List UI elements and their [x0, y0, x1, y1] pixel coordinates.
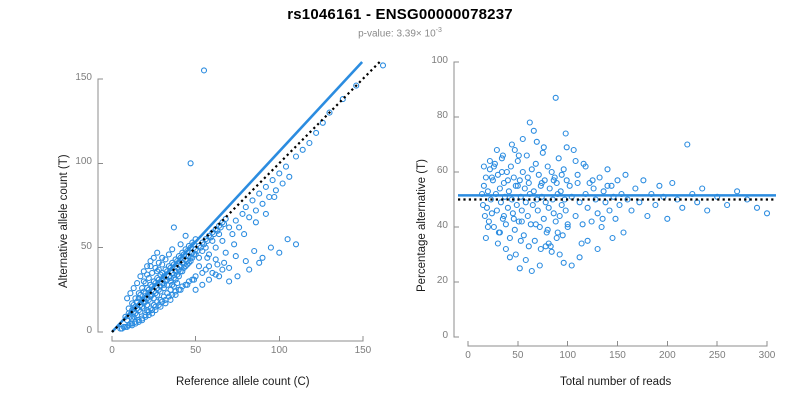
- data-point: [567, 183, 572, 188]
- data-point: [507, 236, 512, 241]
- data-point: [173, 292, 178, 297]
- left-x-tick-label: 50: [176, 345, 216, 356]
- data-point: [155, 250, 160, 255]
- data-point: [260, 201, 265, 206]
- data-point: [294, 154, 299, 159]
- data-point: [272, 195, 277, 200]
- data-point: [512, 227, 517, 232]
- data-point: [273, 188, 278, 193]
- data-point: [320, 120, 325, 125]
- data-point: [573, 159, 578, 164]
- data-point: [268, 245, 273, 250]
- data-point: [515, 159, 520, 164]
- data-point: [495, 241, 500, 246]
- data-point: [621, 230, 626, 235]
- data-point: [607, 208, 612, 213]
- data-point: [300, 147, 305, 152]
- data-point: [243, 205, 248, 210]
- data-point: [503, 222, 508, 227]
- data-point: [605, 167, 610, 172]
- data-point: [610, 236, 615, 241]
- data-point: [525, 214, 530, 219]
- data-point: [540, 150, 545, 155]
- data-point: [545, 164, 550, 169]
- data-point: [680, 205, 685, 210]
- data-point: [546, 205, 551, 210]
- data-point: [533, 222, 538, 227]
- data-point: [589, 219, 594, 224]
- data-point: [497, 186, 502, 191]
- left-y-tick-label: 50: [60, 241, 92, 252]
- data-point: [532, 238, 537, 243]
- data-point: [564, 178, 569, 183]
- data-point: [541, 216, 546, 221]
- data-point: [128, 291, 133, 296]
- right-x-tick-label: 250: [697, 350, 737, 361]
- data-point: [530, 203, 535, 208]
- data-point: [135, 281, 140, 286]
- data-point: [247, 215, 252, 220]
- data-point: [533, 161, 538, 166]
- left-x-tick-label: 100: [259, 345, 299, 356]
- data-point: [485, 225, 490, 230]
- panel-allele-counts: [98, 62, 386, 341]
- data-point: [252, 249, 257, 254]
- data-point: [629, 208, 634, 213]
- right-x-axis-title: Total number of reads: [560, 376, 671, 388]
- data-point: [499, 170, 504, 175]
- right-y-tick-label: 60: [416, 165, 448, 176]
- data-point: [314, 130, 319, 135]
- right-y-tick-label: 40: [416, 220, 448, 231]
- data-point: [240, 211, 245, 216]
- data-point: [487, 159, 492, 164]
- data-point: [512, 148, 517, 153]
- data-point: [531, 128, 536, 133]
- data-point: [230, 232, 235, 237]
- data-point: [171, 225, 176, 230]
- figure-container: rs1046161 - ENSG00000078237 p-value: 3.3…: [0, 0, 800, 400]
- pvalue-text: p-value: 3.39× 10: [358, 28, 436, 39]
- data-point: [220, 267, 225, 272]
- data-point: [505, 178, 510, 183]
- page-title: rs1046161 - ENSG00000078237: [0, 6, 800, 23]
- data-point: [257, 260, 262, 265]
- data-point: [263, 184, 268, 189]
- right-y-tick-label: 100: [416, 55, 448, 66]
- data-point: [543, 244, 548, 249]
- data-point: [623, 172, 628, 177]
- right-x-tick-label: 200: [647, 350, 687, 361]
- data-point: [573, 214, 578, 219]
- data-point: [531, 189, 536, 194]
- data-point: [556, 156, 561, 161]
- data-point: [559, 203, 564, 208]
- right-x-tick-label: 50: [498, 350, 538, 361]
- data-point: [381, 63, 386, 68]
- data-point: [203, 267, 208, 272]
- data-point: [253, 220, 258, 225]
- data-point: [511, 175, 516, 180]
- plot-canvas: [0, 0, 800, 400]
- data-point: [504, 170, 509, 175]
- data-point: [517, 266, 522, 271]
- data-point: [521, 233, 526, 238]
- data-point: [223, 216, 228, 221]
- data-point: [524, 153, 529, 158]
- data-point: [641, 178, 646, 183]
- data-point: [294, 242, 299, 247]
- data-point: [233, 254, 238, 259]
- data-point: [595, 247, 600, 252]
- data-point: [522, 186, 527, 191]
- data-point: [577, 255, 582, 260]
- data-point: [585, 205, 590, 210]
- left-x-tick-label: 150: [343, 345, 383, 356]
- left-y-tick-label: 100: [60, 156, 92, 167]
- data-point: [200, 282, 205, 287]
- data-point: [510, 211, 515, 216]
- right-x-tick-label: 300: [747, 350, 787, 361]
- data-point: [193, 287, 198, 292]
- data-point: [509, 142, 514, 147]
- data-point: [653, 203, 658, 208]
- data-point: [257, 191, 262, 196]
- data-point: [213, 257, 218, 262]
- data-point: [657, 183, 662, 188]
- data-point: [569, 263, 574, 268]
- left-x-tick-label: 0: [92, 345, 132, 356]
- data-point: [486, 219, 491, 224]
- data-point: [547, 186, 552, 191]
- data-point: [215, 262, 220, 267]
- right-x-tick-label: 100: [548, 350, 588, 361]
- data-point: [617, 203, 622, 208]
- right-y-tick-label: 80: [416, 110, 448, 121]
- data-point: [223, 250, 228, 255]
- data-point: [170, 247, 175, 252]
- data-point: [571, 148, 576, 153]
- left-y-axis-title: Alternative allele count (T): [58, 154, 70, 288]
- data-point: [485, 189, 490, 194]
- data-point: [237, 225, 242, 230]
- data-point: [263, 211, 268, 216]
- data-point: [514, 203, 519, 208]
- right-y-tick-label: 20: [416, 275, 448, 286]
- data-point: [513, 252, 518, 257]
- data-point: [536, 172, 541, 177]
- left-y-tick-label: 0: [60, 325, 92, 336]
- data-point: [685, 142, 690, 147]
- data-point: [557, 252, 562, 257]
- data-point: [197, 264, 202, 269]
- data-point: [755, 205, 760, 210]
- data-point: [227, 279, 232, 284]
- data-point: [529, 269, 534, 274]
- data-point: [511, 216, 516, 221]
- data-point: [508, 164, 513, 169]
- data-point: [549, 170, 554, 175]
- data-point: [494, 208, 499, 213]
- data-point: [243, 259, 248, 264]
- data-point: [285, 237, 290, 242]
- data-point: [227, 225, 232, 230]
- data-point: [735, 189, 740, 194]
- data-point: [267, 195, 272, 200]
- data-point: [601, 189, 606, 194]
- data-point: [213, 245, 218, 250]
- data-point: [235, 274, 240, 279]
- right-y-tick-label: 0: [416, 330, 448, 341]
- data-point: [526, 244, 531, 249]
- data-point: [553, 95, 558, 100]
- data-point: [166, 252, 171, 257]
- data-point: [575, 172, 580, 177]
- data-point: [178, 242, 183, 247]
- data-point: [250, 198, 255, 203]
- left-y-tick-label: 150: [60, 72, 92, 83]
- data-point: [506, 189, 511, 194]
- data-point: [260, 255, 265, 260]
- data-point: [125, 296, 130, 301]
- data-point: [484, 205, 489, 210]
- data-point: [202, 68, 207, 73]
- data-point: [491, 225, 496, 230]
- data-point: [253, 208, 258, 213]
- data-point: [270, 178, 275, 183]
- data-point: [541, 145, 546, 150]
- data-point: [284, 164, 289, 169]
- data-point: [481, 183, 486, 188]
- data-point: [670, 181, 675, 186]
- data-point: [517, 178, 522, 183]
- data-point: [232, 242, 237, 247]
- left-x-axis-line: [112, 336, 363, 341]
- data-point: [561, 260, 566, 265]
- right-x-tick-label: 150: [598, 350, 638, 361]
- data-point: [575, 181, 580, 186]
- data-point: [535, 208, 540, 213]
- data-point: [585, 238, 590, 243]
- data-point: [483, 175, 488, 180]
- data-point: [700, 186, 705, 191]
- pvalue-subtitle: p-value: 3.39× 10-3: [0, 27, 800, 39]
- data-point: [564, 145, 569, 150]
- allele-counts-points: [118, 63, 386, 331]
- data-point: [523, 258, 528, 263]
- right-x-tick-label: 0: [448, 350, 488, 361]
- data-point: [579, 241, 584, 246]
- data-point: [591, 186, 596, 191]
- data-point: [705, 208, 710, 213]
- data-point: [526, 181, 531, 186]
- data-point: [559, 172, 564, 177]
- data-point: [227, 265, 232, 270]
- data-point: [222, 260, 227, 265]
- identity-line: [112, 62, 380, 332]
- data-point: [555, 230, 560, 235]
- left-x-axis-title: Reference allele count (C): [176, 376, 310, 388]
- data-point: [765, 211, 770, 216]
- data-point: [528, 222, 533, 227]
- data-point: [520, 170, 525, 175]
- data-point: [307, 141, 312, 146]
- data-point: [551, 211, 556, 216]
- data-point: [665, 216, 670, 221]
- data-point: [645, 214, 650, 219]
- data-point: [280, 181, 285, 186]
- data-point: [595, 211, 600, 216]
- data-point: [481, 164, 486, 169]
- data-point: [150, 270, 155, 275]
- data-point: [482, 214, 487, 219]
- data-point: [525, 175, 530, 180]
- pvalue-exponent: -3: [436, 27, 442, 34]
- data-point: [277, 250, 282, 255]
- data-point: [600, 216, 605, 221]
- data-point: [507, 255, 512, 260]
- data-point: [277, 171, 282, 176]
- data-point: [233, 218, 238, 223]
- data-point: [597, 175, 602, 180]
- data-point: [560, 233, 565, 238]
- data-point: [553, 219, 558, 224]
- data-point: [148, 264, 153, 269]
- data-point: [505, 205, 510, 210]
- data-point: [516, 153, 521, 158]
- data-point: [554, 236, 559, 241]
- data-point: [538, 247, 543, 252]
- data-point: [613, 216, 618, 221]
- data-point: [220, 238, 225, 243]
- data-point: [561, 167, 566, 172]
- panel-percentage-alternative: [454, 62, 776, 346]
- data-point: [563, 208, 568, 213]
- data-point: [520, 137, 525, 142]
- data-point: [519, 208, 524, 213]
- data-point: [183, 233, 188, 238]
- data-point: [633, 186, 638, 191]
- left-y-axis-line: [98, 79, 103, 332]
- data-point: [580, 222, 585, 227]
- data-point: [287, 174, 292, 179]
- fit-line: [112, 62, 362, 332]
- data-point: [131, 286, 136, 291]
- data-point: [537, 263, 542, 268]
- data-point: [615, 178, 620, 183]
- data-point: [518, 238, 523, 243]
- data-point: [138, 274, 143, 279]
- data-point: [527, 120, 532, 125]
- data-point: [557, 214, 562, 219]
- data-point: [207, 277, 212, 282]
- data-point: [483, 236, 488, 241]
- data-point: [503, 247, 508, 252]
- data-point: [151, 255, 156, 260]
- data-point: [188, 161, 193, 166]
- data-point: [247, 267, 252, 272]
- data-point: [494, 148, 499, 153]
- data-point: [489, 211, 494, 216]
- data-point: [549, 249, 554, 254]
- data-point: [599, 225, 604, 230]
- data-point: [534, 139, 539, 144]
- data-point: [242, 232, 247, 237]
- data-point: [529, 167, 534, 172]
- data-point: [563, 131, 568, 136]
- percentage-alternative-points: [480, 95, 770, 273]
- data-point: [725, 203, 730, 208]
